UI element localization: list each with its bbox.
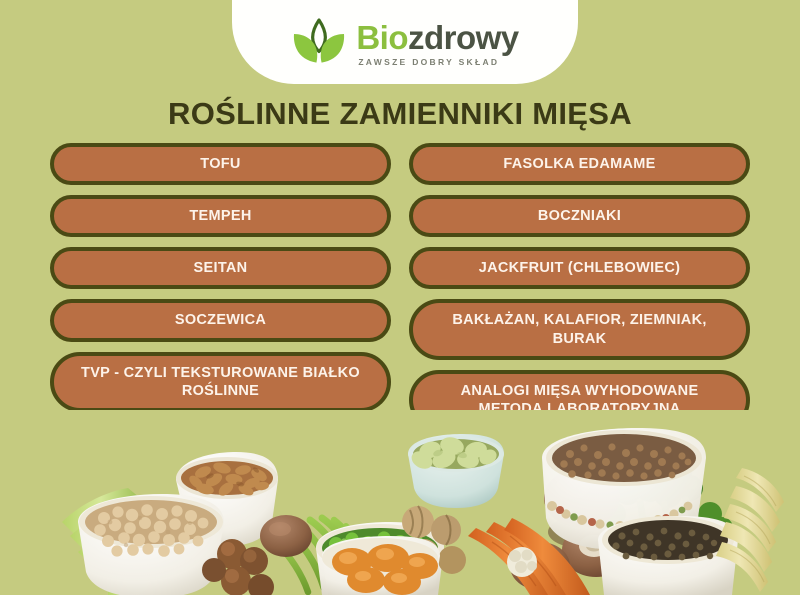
- list-item[interactable]: SOCZEWICA: [50, 299, 391, 341]
- brand-name-part2: zdrowy: [408, 19, 519, 56]
- brand-wordmark: Biozdrowy ZAWSZE DOBRY SKŁAD: [356, 21, 518, 67]
- leaf-sprout-icon: [291, 18, 347, 70]
- brand-logo: Biozdrowy ZAWSZE DOBRY SKŁAD: [291, 18, 518, 70]
- list-item[interactable]: JACKFRUIT (CHLEBOWIEC): [409, 247, 750, 289]
- substitutes-columns: TOFU TEMPEH SEITAN SOCZEWICA TVP - CZYLI…: [50, 143, 750, 430]
- brand-name-part1: Bio: [356, 19, 408, 56]
- list-item[interactable]: BOCZNIAKI: [409, 195, 750, 237]
- page-title: ROŚLINNE ZAMIENNIKI MIĘSA: [0, 96, 800, 132]
- list-item[interactable]: TEMPEH: [50, 195, 391, 237]
- brand-logo-card: Biozdrowy ZAWSZE DOBRY SKŁAD: [232, 0, 578, 84]
- list-item[interactable]: TOFU: [50, 143, 391, 185]
- list-item[interactable]: TVP - CZYLI TEKSTUROWANE BIAŁKO ROŚLINNE: [50, 352, 391, 412]
- left-column: TOFU TEMPEH SEITAN SOCZEWICA TVP - CZYLI…: [50, 143, 391, 430]
- list-item[interactable]: BAKŁAŻAN, KALAFIOR, ZIEMNIAK, BURAK: [409, 299, 750, 359]
- infographic-poster: Biozdrowy ZAWSZE DOBRY SKŁAD ROŚLINNE ZA…: [0, 0, 800, 595]
- brand-name: Biozdrowy: [356, 21, 518, 54]
- plant-protein-foods-photo: [0, 410, 800, 595]
- brand-tagline: ZAWSZE DOBRY SKŁAD: [358, 58, 499, 67]
- list-item[interactable]: FASOLKA EDAMAME: [409, 143, 750, 185]
- list-item[interactable]: SEITAN: [50, 247, 391, 289]
- right-column: FASOLKA EDAMAME BOCZNIAKI JACKFRUIT (CHL…: [409, 143, 750, 430]
